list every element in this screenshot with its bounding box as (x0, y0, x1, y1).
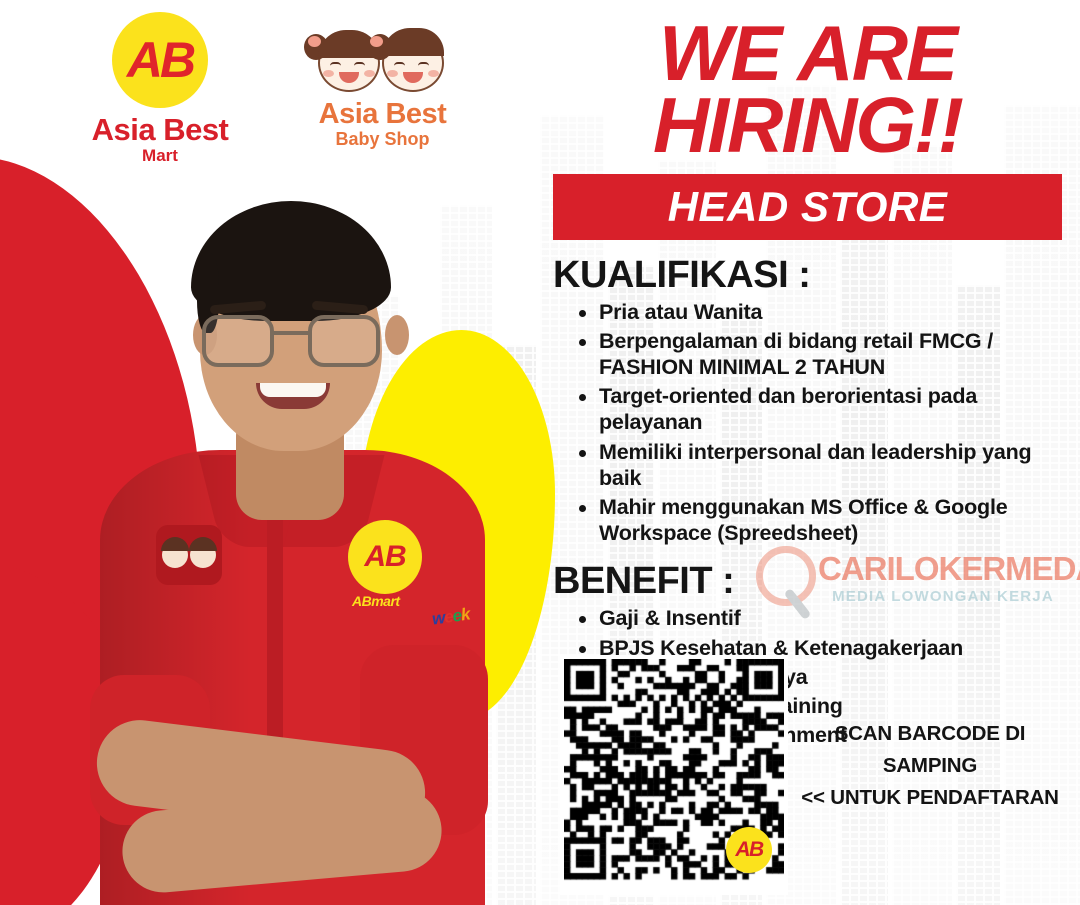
baby-logo-sub: Baby Shop (290, 129, 475, 150)
qr-ab-logo: AB (726, 827, 772, 873)
children-faces-icon (290, 12, 475, 98)
uniform-ab-badge: AB (348, 520, 422, 594)
scan-instruction-line-2: << UNTUK PENDAFTARAN (790, 782, 1070, 814)
uniform-badge-label: ABmart (352, 593, 400, 609)
job-poster: AB ABmart week AB Asia Best Mart (0, 0, 1080, 905)
qr-logo-monogram: AB (735, 838, 762, 862)
role-banner: HEAD STORE (553, 174, 1062, 240)
brand-logos: AB Asia Best Mart Asia Best Baby Shop (60, 12, 475, 166)
qr-code[interactable]: AB (560, 655, 788, 895)
employee-photo: AB ABmart week (60, 175, 520, 905)
list-item: Memiliki interpersonal dan leadership ya… (579, 439, 1070, 491)
qualifications-heading: KUALIFIKASI : (553, 254, 1070, 297)
asia-best-mart-logo: AB Asia Best Mart (60, 12, 260, 166)
list-item: Pria atau Wanita (579, 299, 1070, 325)
list-item: Mahir menggunakan MS Office & Google Wor… (579, 494, 1070, 546)
baby-logo-name: Asia Best (290, 98, 475, 131)
ab-monogram-icon: AB (112, 12, 208, 108)
scan-instruction-line-1: SCAN BARCODE DI SAMPING (790, 718, 1070, 782)
qualifications-list: Pria atau Wanita Berpengalaman di bidang… (545, 299, 1070, 547)
uniform-badge-monogram: AB (364, 540, 405, 574)
list-item: Berpengalaman di bidang retail FMCG / FA… (579, 328, 1070, 380)
headline: WE ARE HIRING!! (545, 18, 1070, 162)
list-item: Target-oriented dan berorientasi pada pe… (579, 383, 1070, 435)
mart-logo-name: Asia Best (60, 112, 260, 148)
uniform-baby-badge (156, 525, 222, 585)
benefits-heading: BENEFIT : (553, 560, 1070, 603)
headline-line-2: HIRING!! (545, 90, 1070, 162)
ab-monogram-text: AB (127, 31, 193, 89)
scan-instructions: SCAN BARCODE DI SAMPING << UNTUK PENDAFT… (790, 718, 1070, 813)
glasses-icon (200, 315, 382, 367)
mart-logo-sub: Mart (60, 146, 260, 166)
asia-best-baby-shop-logo: Asia Best Baby Shop (290, 12, 475, 150)
role-title: HEAD STORE (668, 183, 948, 231)
list-item: Gaji & Insentif (579, 605, 1070, 631)
